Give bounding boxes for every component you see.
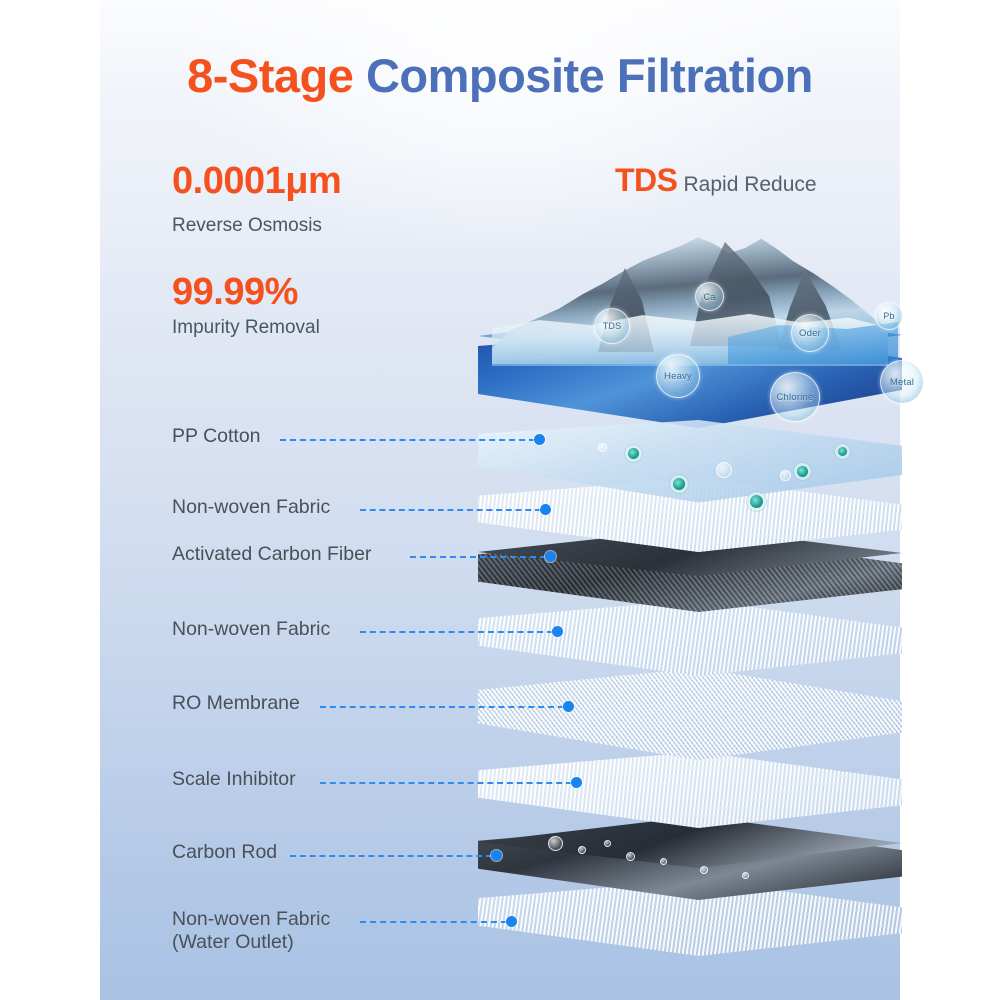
layer-label-pp-cotton: PP Cotton xyxy=(172,425,261,448)
leader-dot-scale-inhibitor xyxy=(571,777,582,788)
leader-dot-ro-membrane xyxy=(563,701,574,712)
layer-label-text: Carbon Rod xyxy=(172,841,277,863)
water-droplet xyxy=(604,840,611,847)
leader-dot-activated-carbon xyxy=(545,551,556,562)
layer-label-activated-carbon-fiber: Activated Carbon Fiber xyxy=(172,543,371,566)
filter-particle xyxy=(838,447,847,456)
filter-layer-stack xyxy=(0,0,1000,1000)
leader-line-scale-inhibitor xyxy=(320,782,572,784)
water-droplet xyxy=(700,866,708,874)
layer-sheet-non-woven-fabric-2 xyxy=(478,600,902,676)
layer-label-ro-membrane: RO Membrane xyxy=(172,692,300,715)
water-droplet xyxy=(742,872,749,879)
layer-label-scale-inhibitor: Scale Inhibitor xyxy=(172,768,296,791)
layer-label-carbon-rod: Carbon Rod xyxy=(172,841,277,864)
infographic-root: 8-Stage Composite Filtration 0.0001μm Re… xyxy=(0,0,1000,1000)
leader-dot-non-woven-2 xyxy=(552,626,563,637)
filter-particle xyxy=(750,495,763,508)
filter-particle xyxy=(673,478,685,490)
leader-dot-pp-cotton xyxy=(534,434,545,445)
leader-line-ro-membrane xyxy=(320,706,564,708)
water-droplet xyxy=(780,470,791,481)
layer-label-text: PP Cotton xyxy=(172,425,261,447)
layer-label-text: Non-woven Fabric xyxy=(172,618,330,640)
layer-label-text: Non-woven Fabric xyxy=(172,908,330,930)
layer-sheet-scale-inhibitor xyxy=(478,752,902,828)
water-droplet xyxy=(598,443,607,452)
layer-label-subtext: (Water Outlet) xyxy=(172,931,330,954)
leader-line-carbon-rod xyxy=(290,855,492,857)
layer-label-text: Non-woven Fabric xyxy=(172,496,330,518)
leader-dot-carbon-rod xyxy=(491,850,502,861)
layer-label-non-woven-outlet: Non-woven Fabric (Water Outlet) xyxy=(172,908,330,954)
water-droplet xyxy=(660,858,667,865)
leader-line-non-woven-outlet xyxy=(360,921,507,923)
filter-particle xyxy=(628,448,639,459)
layer-label-non-woven-2: Non-woven Fabric xyxy=(172,618,330,641)
leader-line-activated-carbon xyxy=(410,556,546,558)
layer-label-text: Activated Carbon Fiber xyxy=(172,543,371,565)
water-droplet xyxy=(716,462,732,478)
water-droplet xyxy=(578,846,586,854)
layer-sheet-ro-membrane xyxy=(478,668,902,760)
layer-label-text: RO Membrane xyxy=(172,692,300,714)
water-droplet xyxy=(626,852,635,861)
leader-line-pp-cotton xyxy=(280,439,535,441)
leader-dot-non-woven-1 xyxy=(540,504,551,515)
leader-dot-non-woven-outlet xyxy=(506,916,517,927)
water-droplet xyxy=(548,836,563,851)
leader-line-non-woven-1 xyxy=(360,509,541,511)
layer-label-text: Scale Inhibitor xyxy=(172,768,296,790)
layer-label-non-woven-1: Non-woven Fabric xyxy=(172,496,330,519)
filter-particle xyxy=(797,466,808,477)
leader-line-non-woven-2 xyxy=(360,631,553,633)
